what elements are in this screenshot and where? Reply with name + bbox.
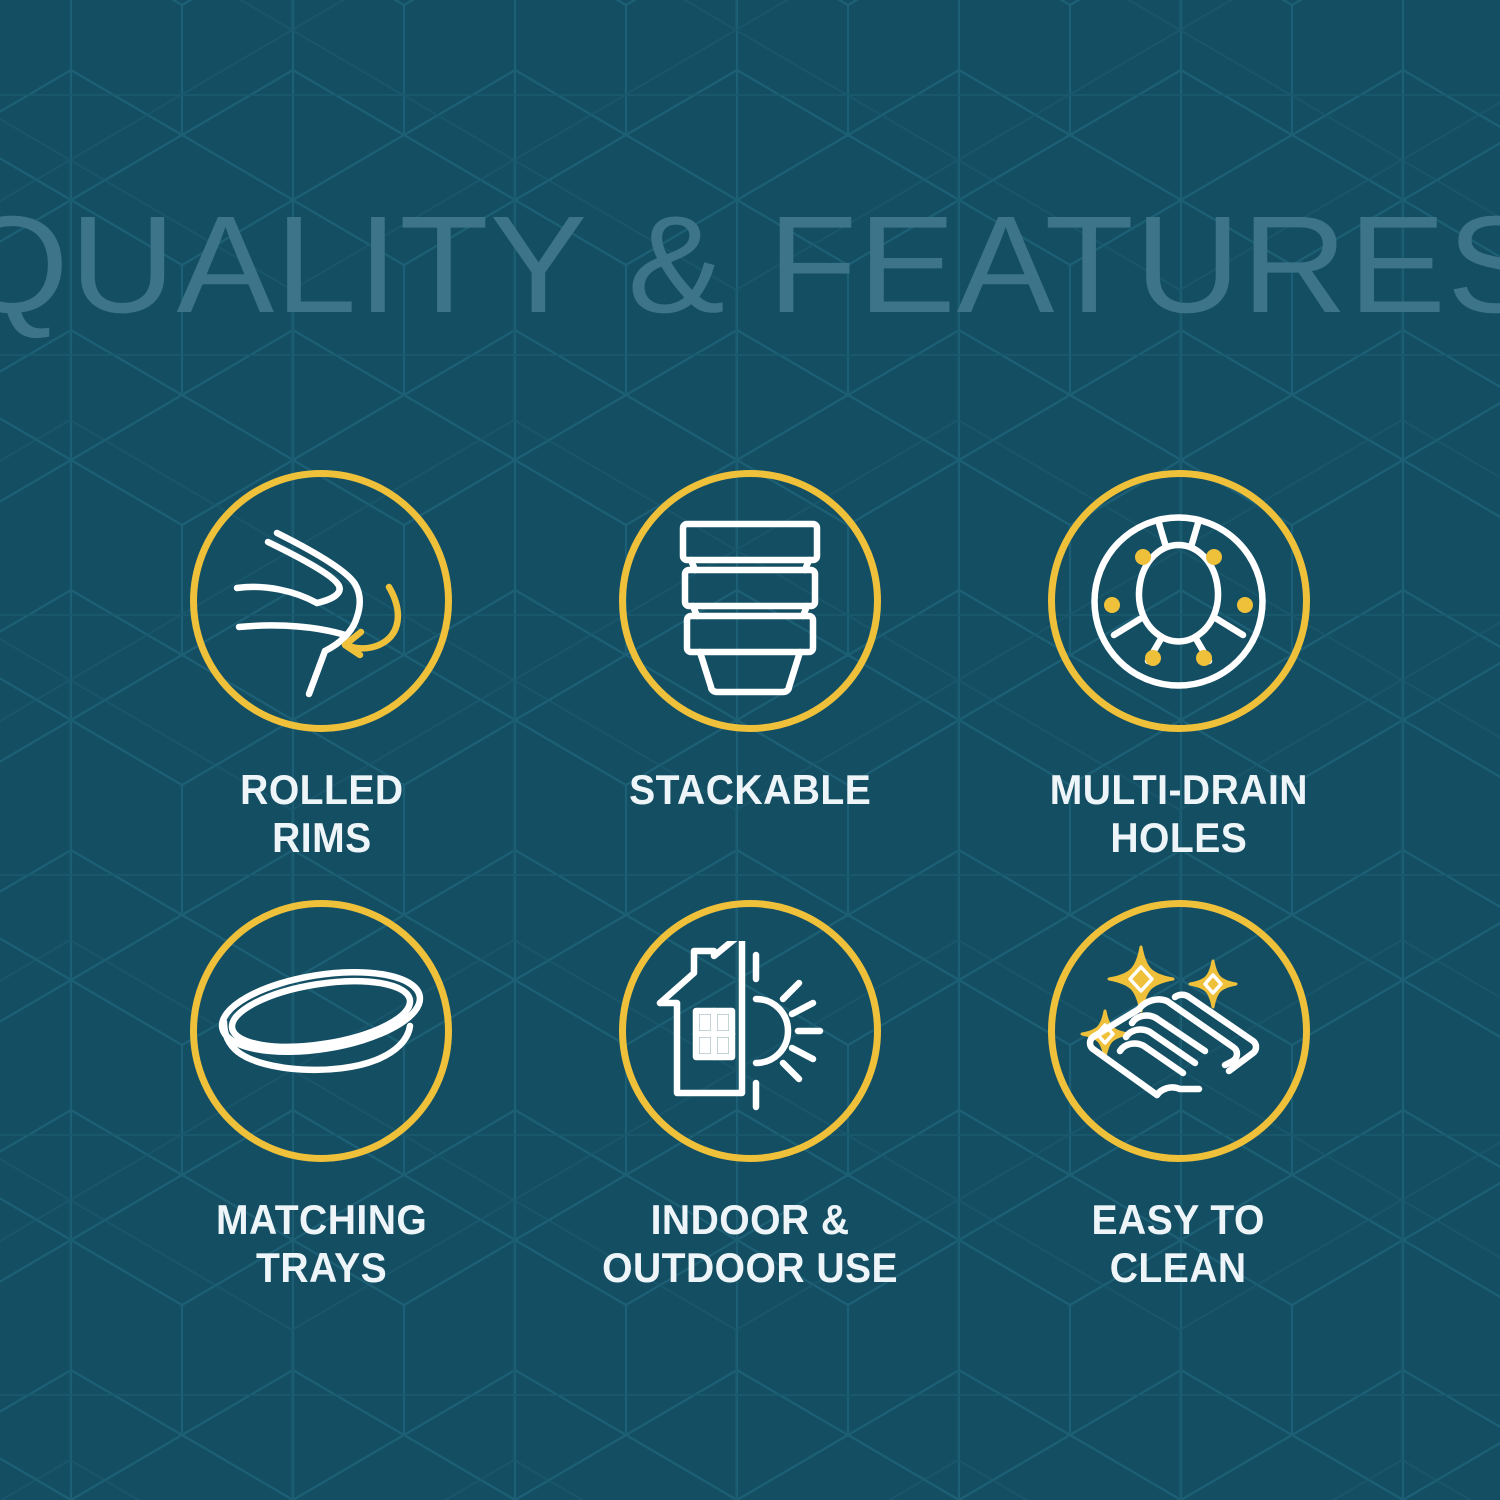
- feature-label-stackable: STACKABLE: [629, 766, 871, 814]
- page-title: QUALITY & FEATURES: [0, 196, 1500, 334]
- feature-stackable[interactable]: STACKABLE: [536, 470, 965, 900]
- feature-label-rolled-rims: ROLLED RIMS: [240, 766, 403, 862]
- oval-tray-icon: [216, 956, 426, 1106]
- feature-label-easy-to-clean: EASY TO CLEAN: [1092, 1196, 1265, 1292]
- infographic-panel: QUALITY & FEATURES: [0, 0, 1500, 1500]
- drain-holes-icon: [1086, 509, 1271, 694]
- rolled-rim-icon: [221, 501, 421, 701]
- icon-ring-rolled-rims: [190, 470, 452, 732]
- icon-ring-matching-trays: [190, 900, 452, 1162]
- feature-matching-trays[interactable]: MATCHING TRAYS: [107, 900, 536, 1330]
- icon-ring-stackable: [619, 470, 881, 732]
- stacked-pots-icon: [655, 506, 845, 696]
- feature-easy-to-clean[interactable]: EASY TO CLEAN: [964, 900, 1393, 1330]
- feature-label-multi-drain-holes: MULTI-DRAIN HOLES: [1050, 766, 1308, 862]
- feature-rolled-rims[interactable]: ROLLED RIMS: [107, 470, 536, 900]
- wiping-hand-sparkle-icon: [1079, 939, 1279, 1124]
- feature-label-indoor-outdoor-use: INDOOR & OUTDOOR USE: [602, 1196, 898, 1292]
- feature-grid: ROLLED RIMS: [107, 470, 1393, 1330]
- icon-ring-multi-drain-holes: [1048, 470, 1310, 732]
- feature-multi-drain-holes[interactable]: MULTI-DRAIN HOLES: [964, 470, 1393, 900]
- feature-label-matching-trays: MATCHING TRAYS: [216, 1196, 427, 1292]
- house-and-sun-icon: [652, 941, 847, 1121]
- icon-ring-indoor-outdoor-use: [619, 900, 881, 1162]
- feature-indoor-outdoor-use[interactable]: INDOOR & OUTDOOR USE: [536, 900, 965, 1330]
- icon-ring-easy-to-clean: [1048, 900, 1310, 1162]
